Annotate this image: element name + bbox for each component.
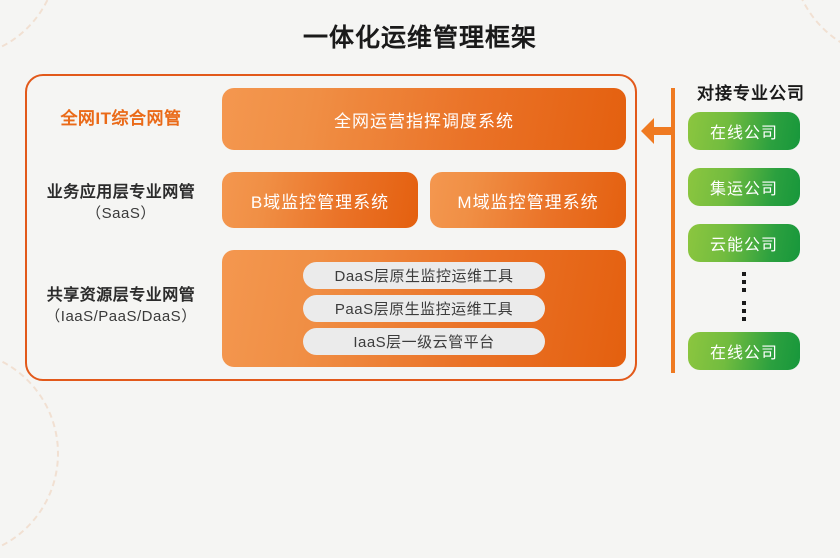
right-column-spine (671, 88, 675, 373)
company-pill-online-1[interactable]: 在线公司 (688, 112, 800, 150)
layer-label-main: 业务应用层专业网管 (26, 182, 216, 204)
company-pill-yunneng[interactable]: 云能公司 (688, 224, 800, 262)
pill-daas-tool[interactable]: DaaS层原生监控运维工具 (303, 262, 545, 289)
page-title: 一体化运维管理框架 (0, 18, 840, 54)
vertical-ellipsis-icon (688, 268, 800, 324)
layer-label-main: 共享资源层专业网管 (26, 285, 216, 307)
layer-label-sub: （IaaS/PaaS/DaaS） (26, 307, 216, 327)
company-pill-jiyun[interactable]: 集运公司 (688, 168, 800, 206)
layer-label-saas: 业务应用层专业网管 （SaaS） (26, 182, 216, 224)
box-b-domain-monitoring[interactable]: B域监控管理系统 (222, 172, 418, 228)
layer-label-shared-resource: 共享资源层专业网管 （IaaS/PaaS/DaaS） (26, 285, 216, 327)
layer-label-main: 全网IT综合网管 (26, 108, 216, 131)
ellipsis-dot (742, 280, 746, 284)
connector-arrow-icon (641, 118, 675, 144)
ellipsis-dot (742, 301, 746, 305)
ellipsis-group-upper (742, 272, 746, 292)
box-shared-resource-panel: DaaS层原生监控运维工具 PaaS层原生监控运维工具 IaaS层一级云管平台 (222, 250, 626, 367)
box-global-operations-system[interactable]: 全网运营指挥调度系统 (222, 88, 626, 150)
pill-iaas-platform[interactable]: IaaS层一级云管平台 (303, 328, 545, 355)
ellipsis-dot (742, 309, 746, 313)
ellipsis-dot (742, 288, 746, 292)
layer-label-sub: （SaaS） (26, 204, 216, 224)
arrow-head (641, 118, 654, 144)
pill-paas-tool[interactable]: PaaS层原生监控运维工具 (303, 295, 545, 322)
box-m-domain-monitoring[interactable]: M域监控管理系统 (430, 172, 626, 228)
layer-label-it-comprehensive: 全网IT综合网管 (26, 108, 216, 131)
ellipsis-dot (742, 272, 746, 276)
ellipsis-group-lower (742, 301, 746, 321)
ellipsis-dot (742, 317, 746, 321)
company-pill-online-2[interactable]: 在线公司 (688, 332, 800, 370)
